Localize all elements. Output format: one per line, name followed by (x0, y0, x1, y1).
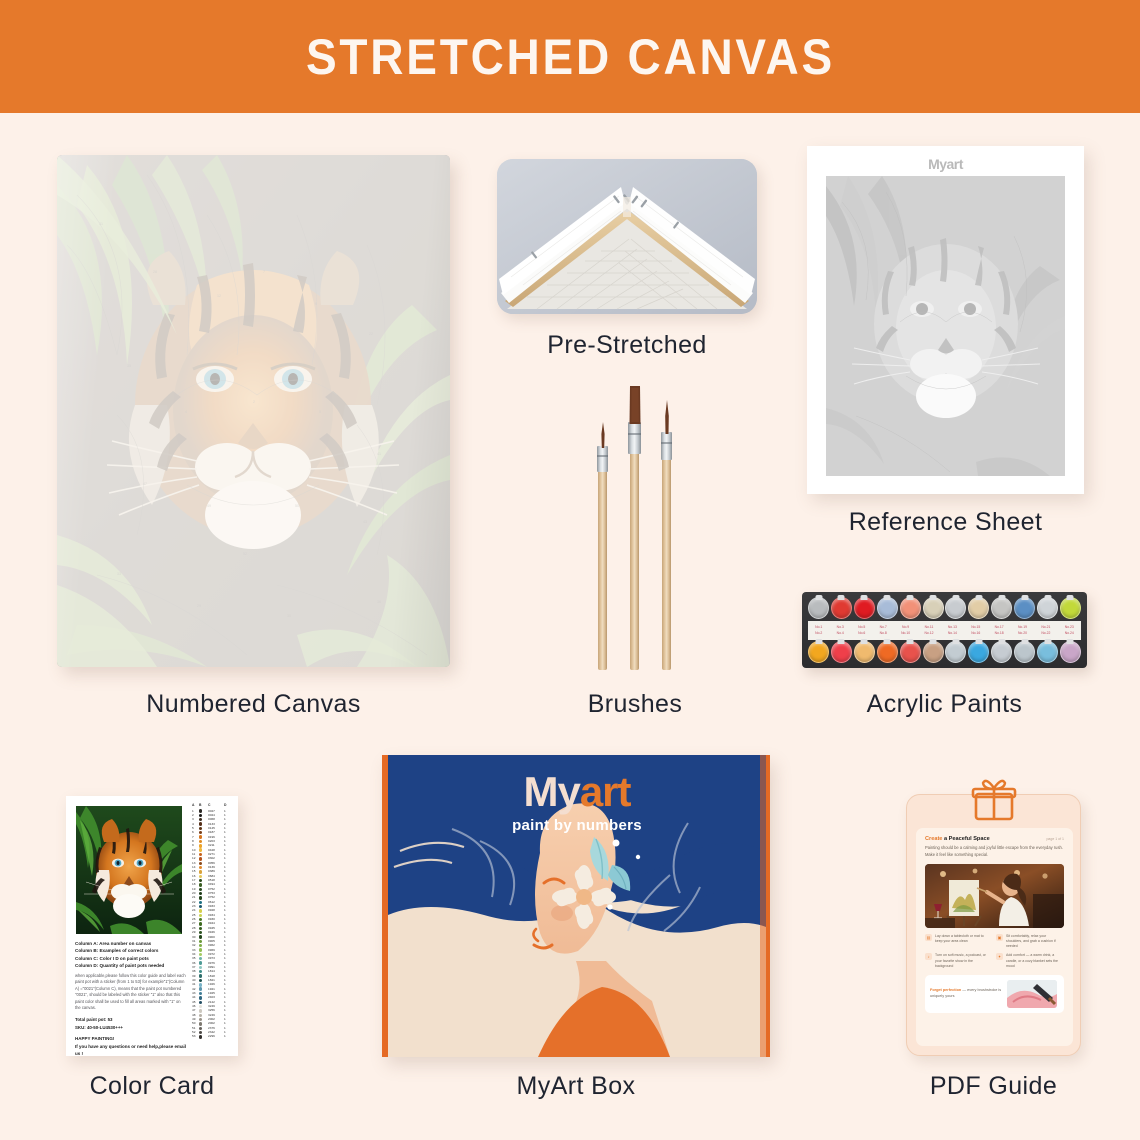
paint-pot (1037, 597, 1058, 619)
grayscale-tiger-linework (826, 176, 1065, 476)
cell-color-id: 2002 (208, 1022, 224, 1025)
paint-pot (1037, 641, 1058, 663)
paint-pot (854, 641, 875, 663)
cell-color-id: 2296 (208, 1035, 224, 1038)
paint-code-label: No.9No.10 (901, 625, 910, 636)
pdf-tip: ♪Turn on soft music, a podcast, or your … (925, 953, 991, 969)
cell-color-swatch (199, 970, 208, 973)
cell-color-swatch (199, 996, 208, 999)
cell-color-swatch (199, 818, 208, 821)
svg-text:36: 36 (377, 600, 381, 604)
cell-color-swatch (199, 888, 208, 891)
col-header-a: A (192, 804, 199, 807)
cell-quantity: 1 (224, 844, 231, 847)
myart-box-image: Myart paint by numbers (382, 755, 770, 1057)
cell-color-swatch (199, 909, 208, 912)
paint-pot (831, 641, 852, 663)
cell-color-swatch (199, 844, 208, 847)
paint-pot-row-top (808, 597, 1081, 619)
svg-text:5: 5 (319, 410, 321, 414)
pdf-note-card: Forget perfection — every brushstroke is… (925, 975, 1064, 1013)
cell-color-id: 0187 (208, 831, 224, 834)
paint-code-label: No.5No.6 (858, 625, 865, 636)
cell-color-swatch (199, 948, 208, 951)
cell-color-swatch (199, 862, 208, 865)
cell-area-number: 32 (192, 944, 199, 947)
cell-color-swatch (199, 1018, 208, 1021)
paint-code-label: No.15No.16 (971, 625, 980, 636)
cell-color-swatch (199, 944, 208, 947)
header-band: STRETCHED CANVAS (0, 0, 1140, 113)
paint-code-label: No.3No.4 (837, 625, 844, 636)
cell-color-swatch (199, 822, 208, 825)
color-card-image: Column A: Area number on canvas Column B… (66, 796, 238, 1056)
colorcard-legend-text: Column A: Area number on canvas Column B… (75, 940, 187, 1058)
label-pre-stretched: Pre-Stretched (497, 331, 757, 360)
tiger-photo-illustration (76, 806, 182, 934)
pdf-note-text: Forget perfection — every brushstroke is… (930, 988, 1002, 1000)
cell-color-swatch (199, 918, 208, 921)
cell-quantity: 1 (224, 1035, 231, 1038)
colorcard-table-header: A B C D (192, 804, 232, 807)
col-header-c: C (208, 804, 224, 807)
woman-painting-illustration (925, 864, 1064, 928)
cell-area-number: 38 (192, 970, 199, 973)
svg-text:12: 12 (217, 294, 221, 298)
cell-color-swatch (199, 831, 208, 834)
cell-area-number: 35 (192, 957, 199, 960)
pdf-tip-text: Turn on soft music, a podcast, or your f… (935, 953, 991, 969)
cell-color-swatch (199, 905, 208, 908)
svg-text:4: 4 (185, 410, 187, 414)
cell-quantity: 1 (224, 1009, 231, 1012)
cell-quantity: 1 (224, 870, 231, 873)
cell-quantity: 1 (224, 931, 231, 934)
pdf-page-number: page 1 of 1 (1046, 837, 1064, 841)
table-icon: ▤ (925, 934, 932, 941)
svg-text:49: 49 (207, 504, 211, 508)
cell-color-swatch (199, 853, 208, 856)
brush-bristle-fine (599, 422, 607, 448)
cell-color-id: 0494 (208, 883, 224, 886)
cell-color-swatch (199, 961, 208, 964)
cell-color-swatch (199, 870, 208, 873)
cell-color-swatch (199, 901, 208, 904)
refsheet-myart-logo: Myart (807, 156, 1084, 172)
cell-color-swatch (199, 914, 208, 917)
cell-color-swatch (199, 892, 208, 895)
cell-color-swatch (199, 866, 208, 869)
svg-text:43: 43 (363, 520, 367, 524)
cell-color-swatch (199, 1014, 208, 1017)
paint-pot (831, 597, 852, 619)
cell-color-id: 0068 (208, 818, 224, 821)
paint-codes-top: No.1No.2No.3No.4No.5No.6No.7No.8No.9No.1… (808, 625, 1081, 636)
paint-pot (923, 641, 944, 663)
refsheet-tiger-grayscale (826, 176, 1065, 476)
cell-quantity: 1 (224, 857, 231, 860)
svg-text:50: 50 (295, 504, 299, 508)
paint-pot (877, 641, 898, 663)
cell-area-number: 53 (192, 1035, 199, 1038)
pdf-guide-image: page 1 of 1 Create a Peaceful Space Pain… (906, 794, 1081, 1056)
colorcard-instructions: when applicable,please follow this color… (75, 973, 187, 1012)
legend-line-d: Column D: Quantity of paint pots needed (75, 962, 187, 969)
numbered-canvas-image: 312812 7922 3542 54147 495043 332930 365… (57, 155, 450, 667)
paint-pot (968, 597, 989, 619)
reference-sheet-image: Myart (807, 146, 1084, 494)
col-header-d: D (224, 804, 231, 807)
paint-label-strip: No.1No.2No.3No.4No.5No.6No.7No.8No.9No.1… (808, 621, 1081, 640)
paint-pot (808, 641, 829, 663)
acrylic-paints-image: No.1No.2No.3No.4No.5No.6No.7No.8No.9No.1… (802, 592, 1087, 668)
cell-area-number: 6 (192, 831, 199, 834)
cell-quantity: 1 (224, 957, 231, 960)
cell-area-number: 29 (192, 931, 199, 934)
cell-area-number: 15 (192, 870, 199, 873)
colorcard-tiger-photo (76, 806, 182, 934)
cell-quantity: 1 (224, 1022, 231, 1025)
page-title: STRETCHED CANVAS (306, 28, 835, 86)
cell-color-swatch (199, 922, 208, 925)
cell-color-swatch (199, 983, 208, 986)
label-acrylic-paints: Acrylic Paints (802, 690, 1087, 719)
box-brand-logo: Myart paint by numbers (388, 771, 766, 834)
cell-color-swatch (199, 974, 208, 977)
pdf-tip-text: Sit comfortably, relax your shoulders, a… (1006, 934, 1062, 950)
cell-quantity: 1 (224, 970, 231, 973)
cell-color-swatch (199, 835, 208, 838)
cell-color-swatch (199, 883, 208, 886)
cell-quantity: 1 (224, 983, 231, 986)
paint-pot (900, 641, 921, 663)
paint-code-label: No.1No.2 (815, 625, 822, 636)
tiger-canvas-artwork: 312812 7922 3542 54147 495043 332930 365… (57, 155, 450, 667)
colorcard-color-table: A B C D 10027120024130068140133250145160… (192, 804, 232, 1039)
cell-area-number: 12 (192, 857, 199, 860)
paint-pot (900, 597, 921, 619)
paint-pot (854, 597, 875, 619)
pdf-note-thumbnail (1007, 980, 1057, 1008)
cell-area-number: 50 (192, 1022, 199, 1025)
label-pdf-guide: PDF Guide (906, 1072, 1081, 1101)
cell-area-number: 44 (192, 996, 199, 999)
box-tagline: paint by numbers (388, 817, 766, 834)
cell-color-id: 2403 (208, 996, 224, 999)
paint-pot (945, 641, 966, 663)
cell-color-id: 0946 (208, 931, 224, 934)
label-color-card: Color Card (46, 1072, 258, 1101)
svg-text:28: 28 (153, 270, 157, 274)
paint-code-label: No.7No.8 (880, 625, 887, 636)
brush-bristle-medium (662, 400, 671, 434)
brand-my: My (523, 768, 579, 815)
brush-fine-round (598, 424, 607, 670)
paint-pot (923, 597, 944, 619)
label-myart-box: MyArt Box (382, 1072, 770, 1101)
paint-pot (1060, 641, 1081, 663)
pdf-note-accent: Forget perfection (930, 988, 961, 992)
svg-text:22: 22 (369, 332, 373, 336)
cell-color-swatch (199, 1027, 208, 1030)
cell-color-swatch (199, 935, 208, 938)
cell-color-swatch (199, 957, 208, 960)
pre-stretched-image (497, 159, 757, 314)
svg-text:31: 31 (99, 222, 103, 226)
colorcard-happy-painting: HAPPY PAINTING! (75, 1035, 187, 1043)
colorcard-sku: SKU: 40-50-LU4530+++ (75, 1024, 187, 1031)
cell-color-swatch (199, 1009, 208, 1012)
brushes-image (588, 388, 682, 670)
cell-color-swatch (199, 953, 208, 956)
pdf-body-text: Painting should be a calming and joyful … (925, 845, 1064, 859)
legend-line-b: Column B: Examples of correct colors (75, 947, 187, 954)
paint-code-label: No.23No.24 (1065, 625, 1074, 636)
cell-color-swatch (199, 1001, 208, 1004)
music-icon: ♪ (925, 953, 932, 960)
paint-pot (945, 597, 966, 619)
cell-color-swatch (199, 1031, 208, 1034)
paint-pot (991, 597, 1012, 619)
paint-code-label: No.17No.18 (995, 625, 1004, 636)
cell-color-swatch (199, 814, 208, 817)
svg-text:29: 29 (197, 604, 201, 608)
pdf-tip-text: Lay down a tablecloth or mat to keep you… (935, 934, 991, 950)
cell-color-id: 0211 (208, 844, 224, 847)
cell-area-number: 9 (192, 844, 199, 847)
cell-color-swatch (199, 927, 208, 930)
cell-color-swatch (199, 992, 208, 995)
legend-line-c: Column C: Color I D on paint pots (75, 955, 187, 962)
cell-area-number: 18 (192, 883, 199, 886)
box-front-face: Myart paint by numbers (388, 755, 766, 1057)
cell-color-swatch (199, 1035, 208, 1038)
cell-quantity: 1 (224, 883, 231, 886)
svg-text:2: 2 (253, 400, 255, 404)
pdf-tip: ✦Add comfort — a warm drink, a candle, o… (996, 953, 1062, 969)
svg-text:9: 9 (315, 302, 317, 306)
paint-pot (877, 597, 898, 619)
legend-line-a: Column A: Area number on canvas (75, 940, 187, 947)
cell-quantity: 1 (224, 818, 231, 821)
paint-code-label: No.13No.14 (948, 625, 957, 636)
paint-pot-row-bottom (808, 641, 1081, 663)
paint-pot (1060, 597, 1081, 619)
cell-color-swatch (199, 809, 208, 812)
canvas-corner-illustration (497, 159, 757, 314)
label-reference-sheet: Reference Sheet (807, 508, 1084, 537)
cell-color-swatch (199, 879, 208, 882)
cell-color-swatch (199, 931, 208, 934)
pdf-heading-accent: Create (925, 836, 942, 842)
svg-text:35: 35 (127, 364, 131, 368)
paint-pot (1014, 641, 1035, 663)
pdf-heading: Create a Peaceful Space (925, 836, 1064, 842)
pdf-page-content: page 1 of 1 Create a Peaceful Space Pain… (916, 828, 1073, 1046)
cell-color-swatch (199, 827, 208, 830)
cell-area-number: 41 (192, 983, 199, 986)
cell-color-swatch (199, 979, 208, 982)
pdf-tip: ▣Sit comfortably, relax your shoulders, … (996, 934, 1062, 950)
gift-icon (970, 777, 1018, 821)
paint-pot (991, 641, 1012, 663)
cell-color-swatch (199, 875, 208, 878)
colorcard-contact: If you have any questions or need help,p… (75, 1043, 187, 1058)
svg-text:47: 47 (143, 482, 147, 486)
cell-color-swatch (199, 1022, 208, 1025)
brush-flat (630, 388, 639, 670)
cell-area-number: 3 (192, 818, 199, 821)
col-header-b: B (199, 804, 208, 807)
cell-color-id: 0973 (208, 957, 224, 960)
paint-code-label: No.11No.12 (924, 625, 933, 636)
colorcard-total-pots: Total paint pot: 53 (75, 1016, 187, 1023)
cell-area-number: 47 (192, 1009, 199, 1012)
pdf-tips-list: ▤Lay down a tablecloth or mat to keep yo… (925, 934, 1064, 970)
brand-art: art (580, 768, 631, 815)
label-numbered-canvas: Numbered Canvas (57, 690, 450, 719)
cell-quantity: 1 (224, 944, 231, 947)
cell-color-swatch (199, 848, 208, 851)
cell-quantity: 1 (224, 996, 231, 999)
cell-color-id: 0302 (208, 857, 224, 860)
label-brushes: Brushes (505, 690, 765, 719)
candle-icon: ✦ (996, 953, 1003, 960)
cell-color-swatch (199, 987, 208, 990)
cell-color-swatch (199, 1005, 208, 1008)
svg-text:41: 41 (377, 452, 381, 456)
cell-color-id: 1814 (208, 970, 224, 973)
svg-text:7: 7 (263, 270, 265, 274)
colorcard-row: 5322961 (192, 1035, 232, 1039)
pdf-tip-text: Add comfort — a warm drink, a candle, or… (1006, 953, 1062, 969)
svg-text:30: 30 (287, 614, 291, 618)
cell-color-swatch (199, 840, 208, 843)
paint-pot (1014, 597, 1035, 619)
cell-color-swatch (199, 966, 208, 969)
brush-bristle-flat (627, 386, 642, 424)
cell-color-swatch (199, 857, 208, 860)
cell-color-id: 1926 (208, 983, 224, 986)
svg-text:33: 33 (117, 572, 121, 576)
paint-pot (808, 597, 829, 619)
pdf-heading-rest: a Peaceful Space (942, 836, 989, 842)
paint-code-label: No.21No.22 (1041, 625, 1050, 636)
cell-quantity: 1 (224, 831, 231, 834)
cell-color-swatch (199, 940, 208, 943)
svg-text:52: 52 (243, 552, 247, 556)
pdf-tip: ▤Lay down a tablecloth or mat to keep yo… (925, 934, 991, 950)
cell-color-swatch (199, 896, 208, 899)
paint-pot (968, 641, 989, 663)
paint-code-label: No.19No.20 (1018, 625, 1027, 636)
pdf-photo-woman-painting (925, 864, 1064, 928)
cell-color-id: 3256 (208, 1009, 224, 1012)
brush-medium-round (662, 402, 671, 670)
product-infographic: STRETCHED CANVAS (0, 0, 1140, 1140)
cell-color-id: 0962 (208, 944, 224, 947)
chair-icon: ▣ (996, 934, 1003, 941)
cell-color-id: 0389 (208, 870, 224, 873)
